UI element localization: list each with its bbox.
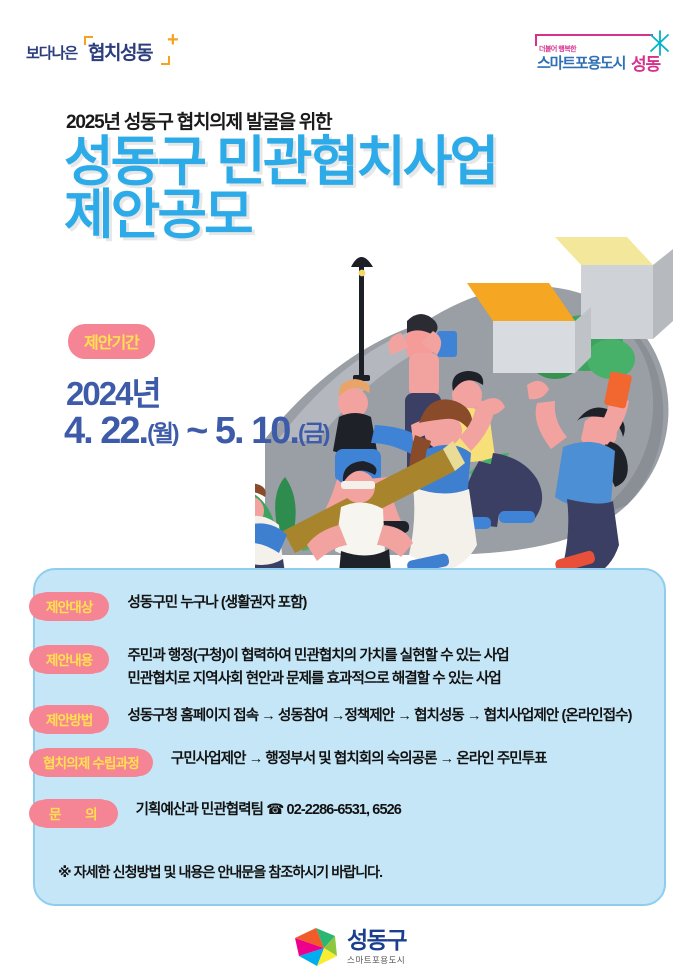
info-text-contact: 기획예산과 민관협력팀 ☎ 02-2286-6531, 6526: [136, 799, 401, 822]
info-text-content-line2: 민관협치로 지역사회 현안과 문제를 효과적으로 해결할 수 있는 사업: [127, 668, 508, 691]
illustration-svg: [255, 225, 699, 575]
info-text-content: 주민과 행정(구청)이 협력하여 민관협치의 가치를 실현할 수 있는 사업 민…: [127, 645, 508, 692]
poster-canvas: 보다나은 협치성동 + 더불어 행복한 스마트포용도시 성동 2025년 성동구…: [0, 0, 699, 979]
info-row-process: 협치의제 수립과정 구민사업제안 → 행정부서 및 협치회의 숙의공론 → 온라…: [33, 748, 547, 777]
brand-logo-smart-city-seongdong: 더불어 행복한 스마트포용도시 성동: [527, 26, 677, 78]
info-label-process: 협치의제 수립과정: [33, 748, 149, 777]
period-start-day: (월): [147, 420, 177, 446]
info-text-process-line1: 구민사업제안 → 행정부서 및 협치회의 숙의공론 → 온라인 주민투표: [171, 748, 547, 771]
info-row-contact: 문 의 기획예산과 민관협력팀 ☎ 02-2286-6531, 6526: [33, 799, 401, 828]
info-row-target: 제안대상 성동구민 누구나 (생활권자 포함): [33, 592, 306, 621]
brand-logo-hyeopchi-seongdong: 보다나은 협치성동 +: [26, 30, 176, 75]
info-label-content: 제안내용: [33, 645, 105, 674]
info-text-content-line1: 주민과 행정(구청)이 협력하여 민관협치의 가치를 실현할 수 있는 사업: [127, 645, 508, 668]
info-label-contact: 문 의: [33, 799, 114, 828]
footer-district-name: 성동구: [347, 929, 406, 952]
info-label-method: 제안방법: [33, 705, 105, 734]
info-text-target-line1: 성동구민 누구나 (생활권자 포함): [127, 592, 306, 615]
sparkle-icon: [647, 30, 673, 56]
info-row-method: 제안방법 성동구청 홈페이지 접속 → 성동참여 →정책제안 → 협치성동 → …: [33, 705, 632, 734]
poster-title-line1: 성동구 민관협치사업: [64, 132, 496, 192]
poster-subtitle: 2025년 성동구 협치의제 발굴을 위한: [66, 107, 331, 134]
info-row-content: 제안내용 주민과 행정(구청)이 협력하여 민관협치의 가치를 실현할 수 있는…: [33, 645, 509, 692]
period-year: 2024년: [66, 367, 160, 415]
period-separator: ~: [186, 410, 206, 452]
left-logo-highlight: 협치성동: [88, 38, 152, 65]
period-range: 4. 22.(월) ~ 5. 10.(금): [64, 410, 328, 453]
info-label-target: 제안대상: [33, 592, 105, 621]
period-end-day: (금): [298, 420, 328, 446]
period-badge: 제안기간: [68, 324, 155, 359]
info-text-contact-line1: 기획예산과 민관협력팀 ☎ 02-2286-6531, 6526: [136, 799, 401, 822]
left-logo-prefix: 보다나은: [26, 42, 77, 63]
bracket-bottom-right-icon: [161, 56, 170, 65]
footer: 성동구 스마트포용도시: [0, 922, 699, 972]
info-text-target: 성동구민 누구나 (생활권자 포함): [127, 592, 306, 615]
info-text-process: 구민사업제안 → 행정부서 및 협치회의 숙의공론 → 온라인 주민투표: [171, 748, 547, 771]
info-text-method: 성동구청 홈페이지 접속 → 성동참여 →정책제안 → 협치성동 → 협치사업제…: [127, 705, 631, 728]
info-text-method-line1: 성동구청 홈페이지 접속 → 성동참여 →정책제안 → 협치성동 → 협치사업제…: [127, 705, 631, 728]
footer-slogan: 스마트포용도시: [347, 956, 405, 965]
pinwheel-logo-icon: [293, 926, 339, 968]
period-end-date: 5. 10.: [215, 410, 298, 452]
info-note: ※ 자세한 신청방법 및 내용은 안내문을 참조하시기 바랍니다.: [58, 862, 382, 882]
plus-icon: +: [167, 30, 179, 50]
period-start-date: 4. 22.: [64, 410, 147, 452]
community-people-road-illustration: [255, 225, 699, 575]
right-logo-main: 스마트포용도시: [537, 52, 625, 73]
